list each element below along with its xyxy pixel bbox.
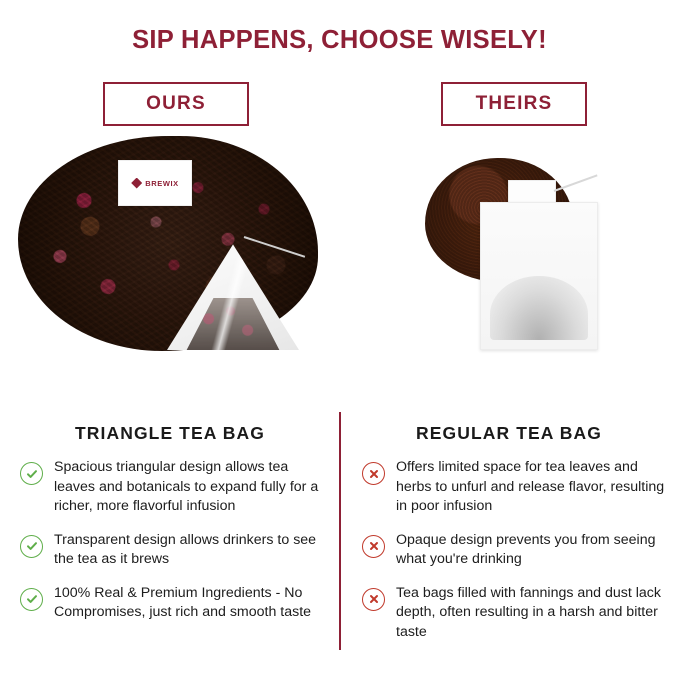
list-item-text: 100% Real & Premium Ingredients - No Com… [54,584,330,623]
column-title-right: REGULAR TEA BAG [359,423,659,444]
column-divider [339,412,341,650]
check-circle-icon [20,462,43,485]
list-item: 100% Real & Premium Ingredients - No Com… [20,584,330,623]
list-item: Offers limited space for tea leaves and … [362,458,672,517]
list-item-text: Offers limited space for tea leaves and … [396,458,672,517]
list-item-text: Spacious triangular design allows tea le… [54,458,330,517]
column-chip-theirs-label: THEIRS [476,93,553,115]
check-circle-icon [20,535,43,558]
list-item-text: Tea bags filled with fannings and dust l… [396,584,672,643]
column-chip-ours: OURS [103,82,249,126]
list-item: Opaque design prevents you from seeing w… [362,531,672,570]
brand-name: BREWIX [145,179,179,188]
check-circle-icon [20,588,43,611]
diamond-icon [131,178,142,189]
benefits-list-ours: Spacious triangular design allows tea le… [20,458,330,637]
regular-tea-bag-image [480,202,598,350]
list-item-text: Transparent design allows drinkers to se… [54,531,330,570]
list-item-text: Opaque design prevents you from seeing w… [396,531,672,570]
product-image-zone: BREWIX [0,130,679,402]
column-chip-ours-label: OURS [146,93,206,115]
brand-tag: BREWIX [118,160,192,206]
tea-bag-string [554,174,598,192]
comparison-infographic: SIP HAPPENS, CHOOSE WISELY! OURS THEIRS … [0,0,679,679]
page-headline: SIP HAPPENS, CHOOSE WISELY! [0,26,679,55]
drawbacks-list-theirs: Offers limited space for tea leaves and … [362,458,672,656]
list-item: Transparent design allows drinkers to se… [20,531,330,570]
list-item: Tea bags filled with fannings and dust l… [362,584,672,643]
list-item: Spacious triangular design allows tea le… [20,458,330,517]
triangle-tea-bag-image [158,240,308,350]
tea-bag-string [244,236,305,258]
column-title-left: TRIANGLE TEA BAG [20,423,320,444]
cross-circle-icon [362,462,385,485]
cross-circle-icon [362,535,385,558]
cross-circle-icon [362,588,385,611]
column-chip-theirs: THEIRS [441,82,587,126]
triangle-sachet-highlight [158,240,308,350]
